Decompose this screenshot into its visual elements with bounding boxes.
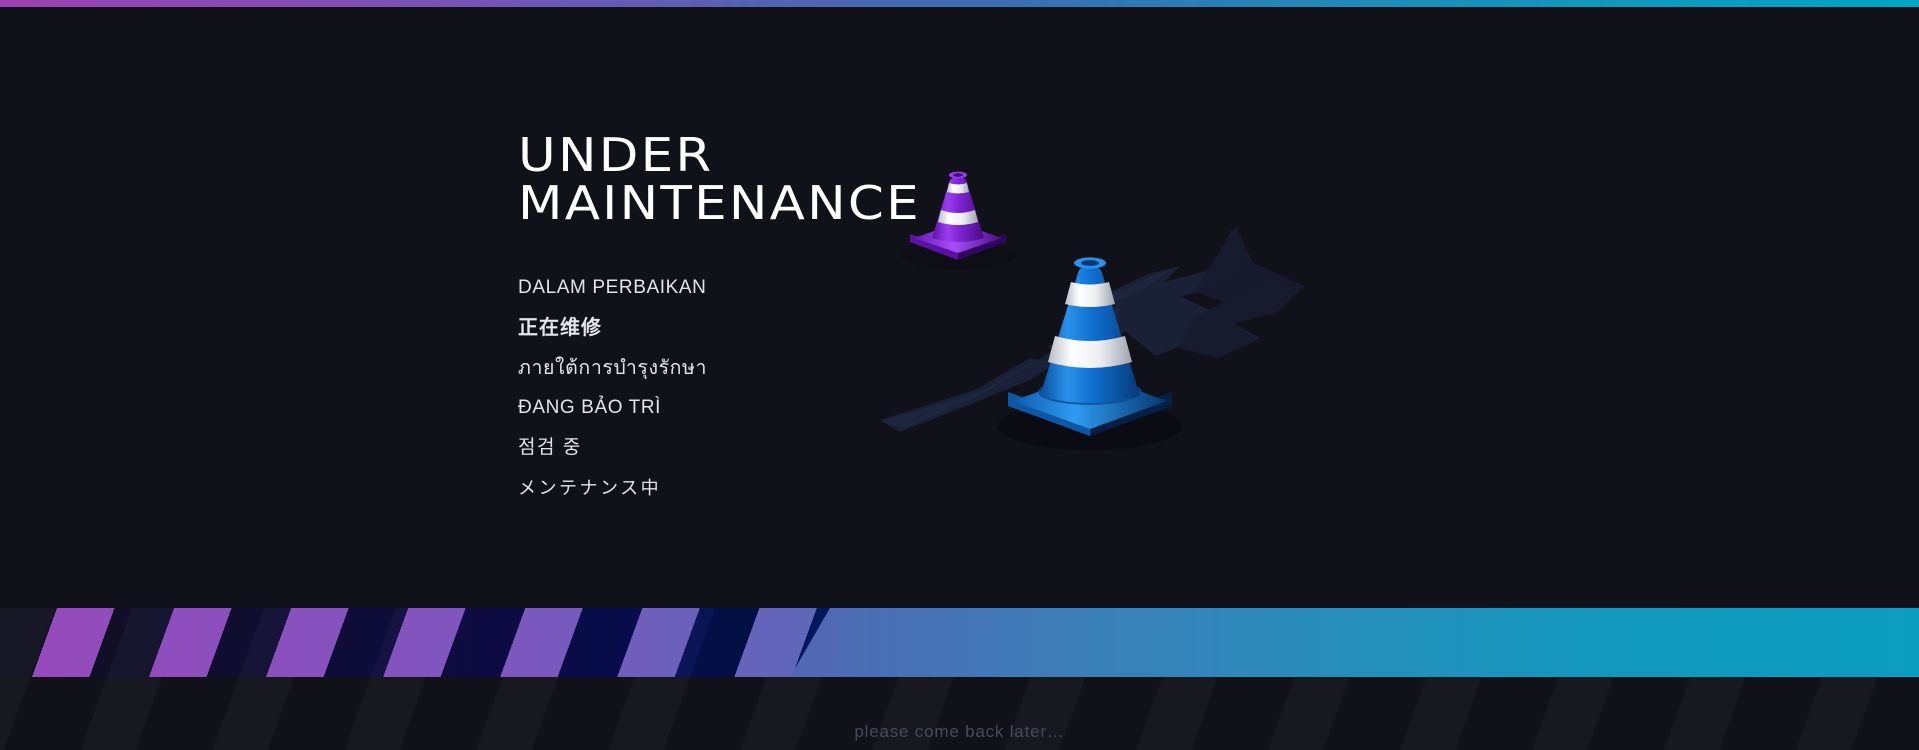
traffic-cone-small-icon bbox=[900, 172, 1016, 270]
maintenance-illustration bbox=[880, 170, 1360, 500]
top-gradient-bar bbox=[0, 0, 1919, 7]
band-stripes bbox=[0, 608, 840, 677]
maintenance-page: UNDER MAINTENANCE DALAM PERBAIKAN 正在维修 ภ… bbox=[0, 0, 1919, 750]
band-solid-segment bbox=[790, 608, 1919, 677]
footer-note: please come back later… bbox=[0, 722, 1919, 742]
band-inner bbox=[0, 608, 1919, 677]
